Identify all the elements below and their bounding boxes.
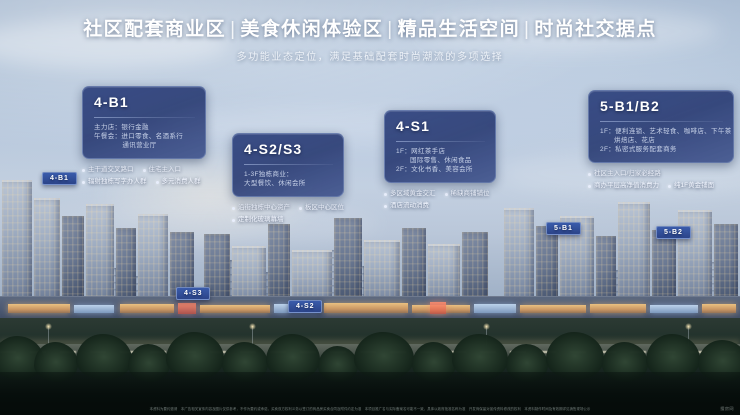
title-separator: | — [226, 19, 240, 40]
building-tag-4-s2[interactable]: 4-S2 — [288, 300, 322, 313]
title-part-4: 时尚社交据点 — [534, 19, 656, 40]
bullet-item: 板区中心区位 — [299, 203, 344, 213]
lamp-glow — [483, 323, 490, 330]
card-panel: 5-B1/B2 1F：便利连锁、艺术轻食、咖啡店、下午茶 烘焙店、花店 2F：私… — [588, 90, 734, 163]
card-divider — [94, 117, 195, 118]
retail-light — [200, 305, 270, 313]
bullet-dot — [668, 185, 671, 188]
page-subtitle: 多功能业态定位，满足基础配套时尚潮流的多项选择 — [0, 51, 740, 65]
retail-light — [702, 304, 736, 313]
bullet-label: 多区域黄金交汇 — [390, 189, 436, 199]
card-bullets: 社区主入口/归家必经路 商办平层高净值消费力 纯1F黄金铺面 — [588, 169, 734, 191]
lamp-glow — [45, 323, 52, 330]
card-title: 4-S2/S3 — [244, 141, 333, 158]
retail-light — [430, 302, 446, 314]
bullet-label: 商办平层高净值消费力 — [594, 181, 659, 191]
bullet-label: 定制化玻璃幕墙 — [238, 215, 284, 225]
card-bullets: 主干道交叉路口 住宅主入口 辐射独栋写字办人群 多元消费人群 — [82, 165, 206, 187]
watermark: 搜房网 — [720, 406, 734, 412]
bullet-item: 酒店流动消费 — [384, 201, 429, 211]
retail-light — [650, 305, 698, 313]
bullet-dot — [384, 205, 387, 208]
card-line: 大型餐饮、休闲会所 — [244, 179, 333, 188]
card-divider — [244, 164, 333, 165]
card-line: 1F：网红茶手店 — [396, 147, 485, 156]
building-tag-4-b1[interactable]: 4-B1 — [42, 172, 77, 185]
promo-banner: 社区配套商业区|美食休闲体验区|精品生活空间|时尚社交据点 多功能业态定位，满足… — [0, 0, 740, 415]
card-line: 主力店：银行金融 — [94, 123, 195, 132]
bullet-label: 多元消费人群 — [162, 177, 201, 187]
bullet-item: 纯1F黄金铺面 — [668, 181, 714, 191]
card-line: 1F：便利连锁、艺术轻食、咖啡店、下午茶 — [600, 127, 723, 136]
card-bullets: 多区域黄金交汇 稀缺商铺铺位 酒店流动消费 — [384, 189, 496, 211]
card-line: 国际零售、休闲食品 — [396, 156, 485, 165]
bullet-item: 定制化玻璃幕墙 — [232, 215, 284, 225]
card-panel: 4-B1 主力店：银行金融 午餐会：进口零食、名酒系行 通讯营业厅 — [82, 86, 206, 159]
card-panel: 4-S1 1F：网红茶手店 国际零售、休闲食品 2F：文化书香、美容会所 — [384, 110, 496, 183]
bullet-dot — [232, 219, 235, 222]
bullet-label: 社区主入口/归家必经路 — [594, 169, 661, 179]
bullet-dot — [588, 173, 591, 176]
bullet-label: 住宅主入口 — [149, 165, 182, 175]
card-line: 午餐会：进口零食、名酒系行 — [94, 132, 195, 141]
bullet-label: 沿街独栋中心资产 — [238, 203, 290, 213]
info-card-4-s2-s3[interactable]: 4-S2/S3 1-3F独栋商业： 大型餐饮、休闲会所 沿街独栋中心资产 板区中… — [232, 133, 344, 225]
bullet-item: 住宅主入口 — [143, 165, 182, 175]
bullet-dot — [299, 207, 302, 210]
bullet-dot — [384, 193, 387, 196]
title-separator: | — [383, 19, 397, 40]
headline-block: 社区配套商业区|美食休闲体验区|精品生活空间|时尚社交据点 多功能业态定位，满足… — [0, 18, 740, 65]
bullet-label: 纯1F黄金铺面 — [674, 181, 714, 191]
card-title: 4-S1 — [396, 118, 485, 135]
retail-light — [590, 304, 646, 313]
title-separator: | — [520, 19, 534, 40]
bullet-label: 板区中心区位 — [305, 203, 344, 213]
bullet-dot — [82, 169, 85, 172]
card-title: 5-B1/B2 — [600, 98, 723, 115]
bullet-item: 沿街独栋中心资产 — [232, 203, 290, 213]
bullet-dot — [588, 185, 591, 188]
bullet-dot — [156, 181, 159, 184]
retail-light — [178, 303, 196, 314]
retail-light — [520, 305, 586, 313]
bullet-item: 辐射独栋写字办人群 — [82, 177, 147, 187]
card-divider — [600, 121, 723, 122]
card-title: 4-B1 — [94, 94, 195, 111]
lamp-glow — [249, 323, 256, 330]
bullet-dot — [143, 169, 146, 172]
info-card-4-s1[interactable]: 4-S1 1F：网红茶手店 国际零售、休闲食品 2F：文化书香、美容会所 多区域… — [384, 110, 496, 211]
bullet-item: 商办平层高净值消费力 — [588, 181, 659, 191]
bullet-item: 稀缺商铺铺位 — [445, 189, 490, 199]
card-line: 通讯营业厅 — [94, 141, 195, 150]
title-part-2: 美食休闲体验区 — [240, 19, 383, 40]
retail-light — [120, 304, 174, 313]
bullet-item: 多元消费人群 — [156, 177, 201, 187]
bullet-label: 主干道交叉路口 — [88, 165, 134, 175]
building-tag-4-s3[interactable]: 4-S3 — [176, 287, 210, 300]
bullet-dot — [445, 193, 448, 196]
legal-disclaimer: 本资料为要约邀请 本广告相关宣传内容及图片仅供参考，不作为要约或承诺，买卖双方权… — [0, 406, 740, 412]
title-part-1: 社区配套商业区 — [83, 19, 226, 40]
bullet-item: 主干道交叉路口 — [82, 165, 134, 175]
retail-light — [474, 304, 516, 313]
building-tag-5-b2[interactable]: 5-B2 — [656, 226, 691, 239]
bullet-label: 稀缺商铺铺位 — [451, 189, 490, 199]
card-line: 烘焙店、花店 — [600, 136, 723, 145]
retail-light — [74, 305, 114, 313]
card-line: 2F：私密式服务配套商务 — [600, 145, 723, 154]
card-bullets: 沿街独栋中心资产 板区中心区位 定制化玻璃幕墙 — [232, 203, 344, 225]
info-card-4-b1[interactable]: 4-B1 主力店：银行金融 午餐会：进口零食、名酒系行 通讯营业厅 主干道交叉路… — [82, 86, 206, 187]
retail-light — [324, 303, 408, 313]
bullet-item: 社区主入口/归家必经路 — [588, 169, 661, 179]
card-line: 2F：文化书香、美容会所 — [396, 165, 485, 174]
bullet-label: 辐射独栋写字办人群 — [88, 177, 147, 187]
page-title: 社区配套商业区|美食休闲体验区|精品生活空间|时尚社交据点 — [0, 18, 740, 42]
bullet-dot — [232, 207, 235, 210]
retail-light — [8, 304, 70, 313]
card-line: 1-3F独栋商业： — [244, 170, 333, 179]
title-part-3: 精品生活空间 — [398, 19, 520, 40]
card-divider — [396, 141, 485, 142]
bullet-dot — [82, 181, 85, 184]
bullet-label: 酒店流动消费 — [390, 201, 429, 211]
info-card-5-b1-b2[interactable]: 5-B1/B2 1F：便利连锁、艺术轻食、咖啡店、下午茶 烘焙店、花店 2F：私… — [588, 90, 734, 191]
bullet-item: 多区域黄金交汇 — [384, 189, 436, 199]
building-tag-5-b1[interactable]: 5-B1 — [546, 222, 581, 235]
lamp-glow — [685, 323, 692, 330]
card-panel: 4-S2/S3 1-3F独栋商业： 大型餐饮、休闲会所 — [232, 133, 344, 197]
